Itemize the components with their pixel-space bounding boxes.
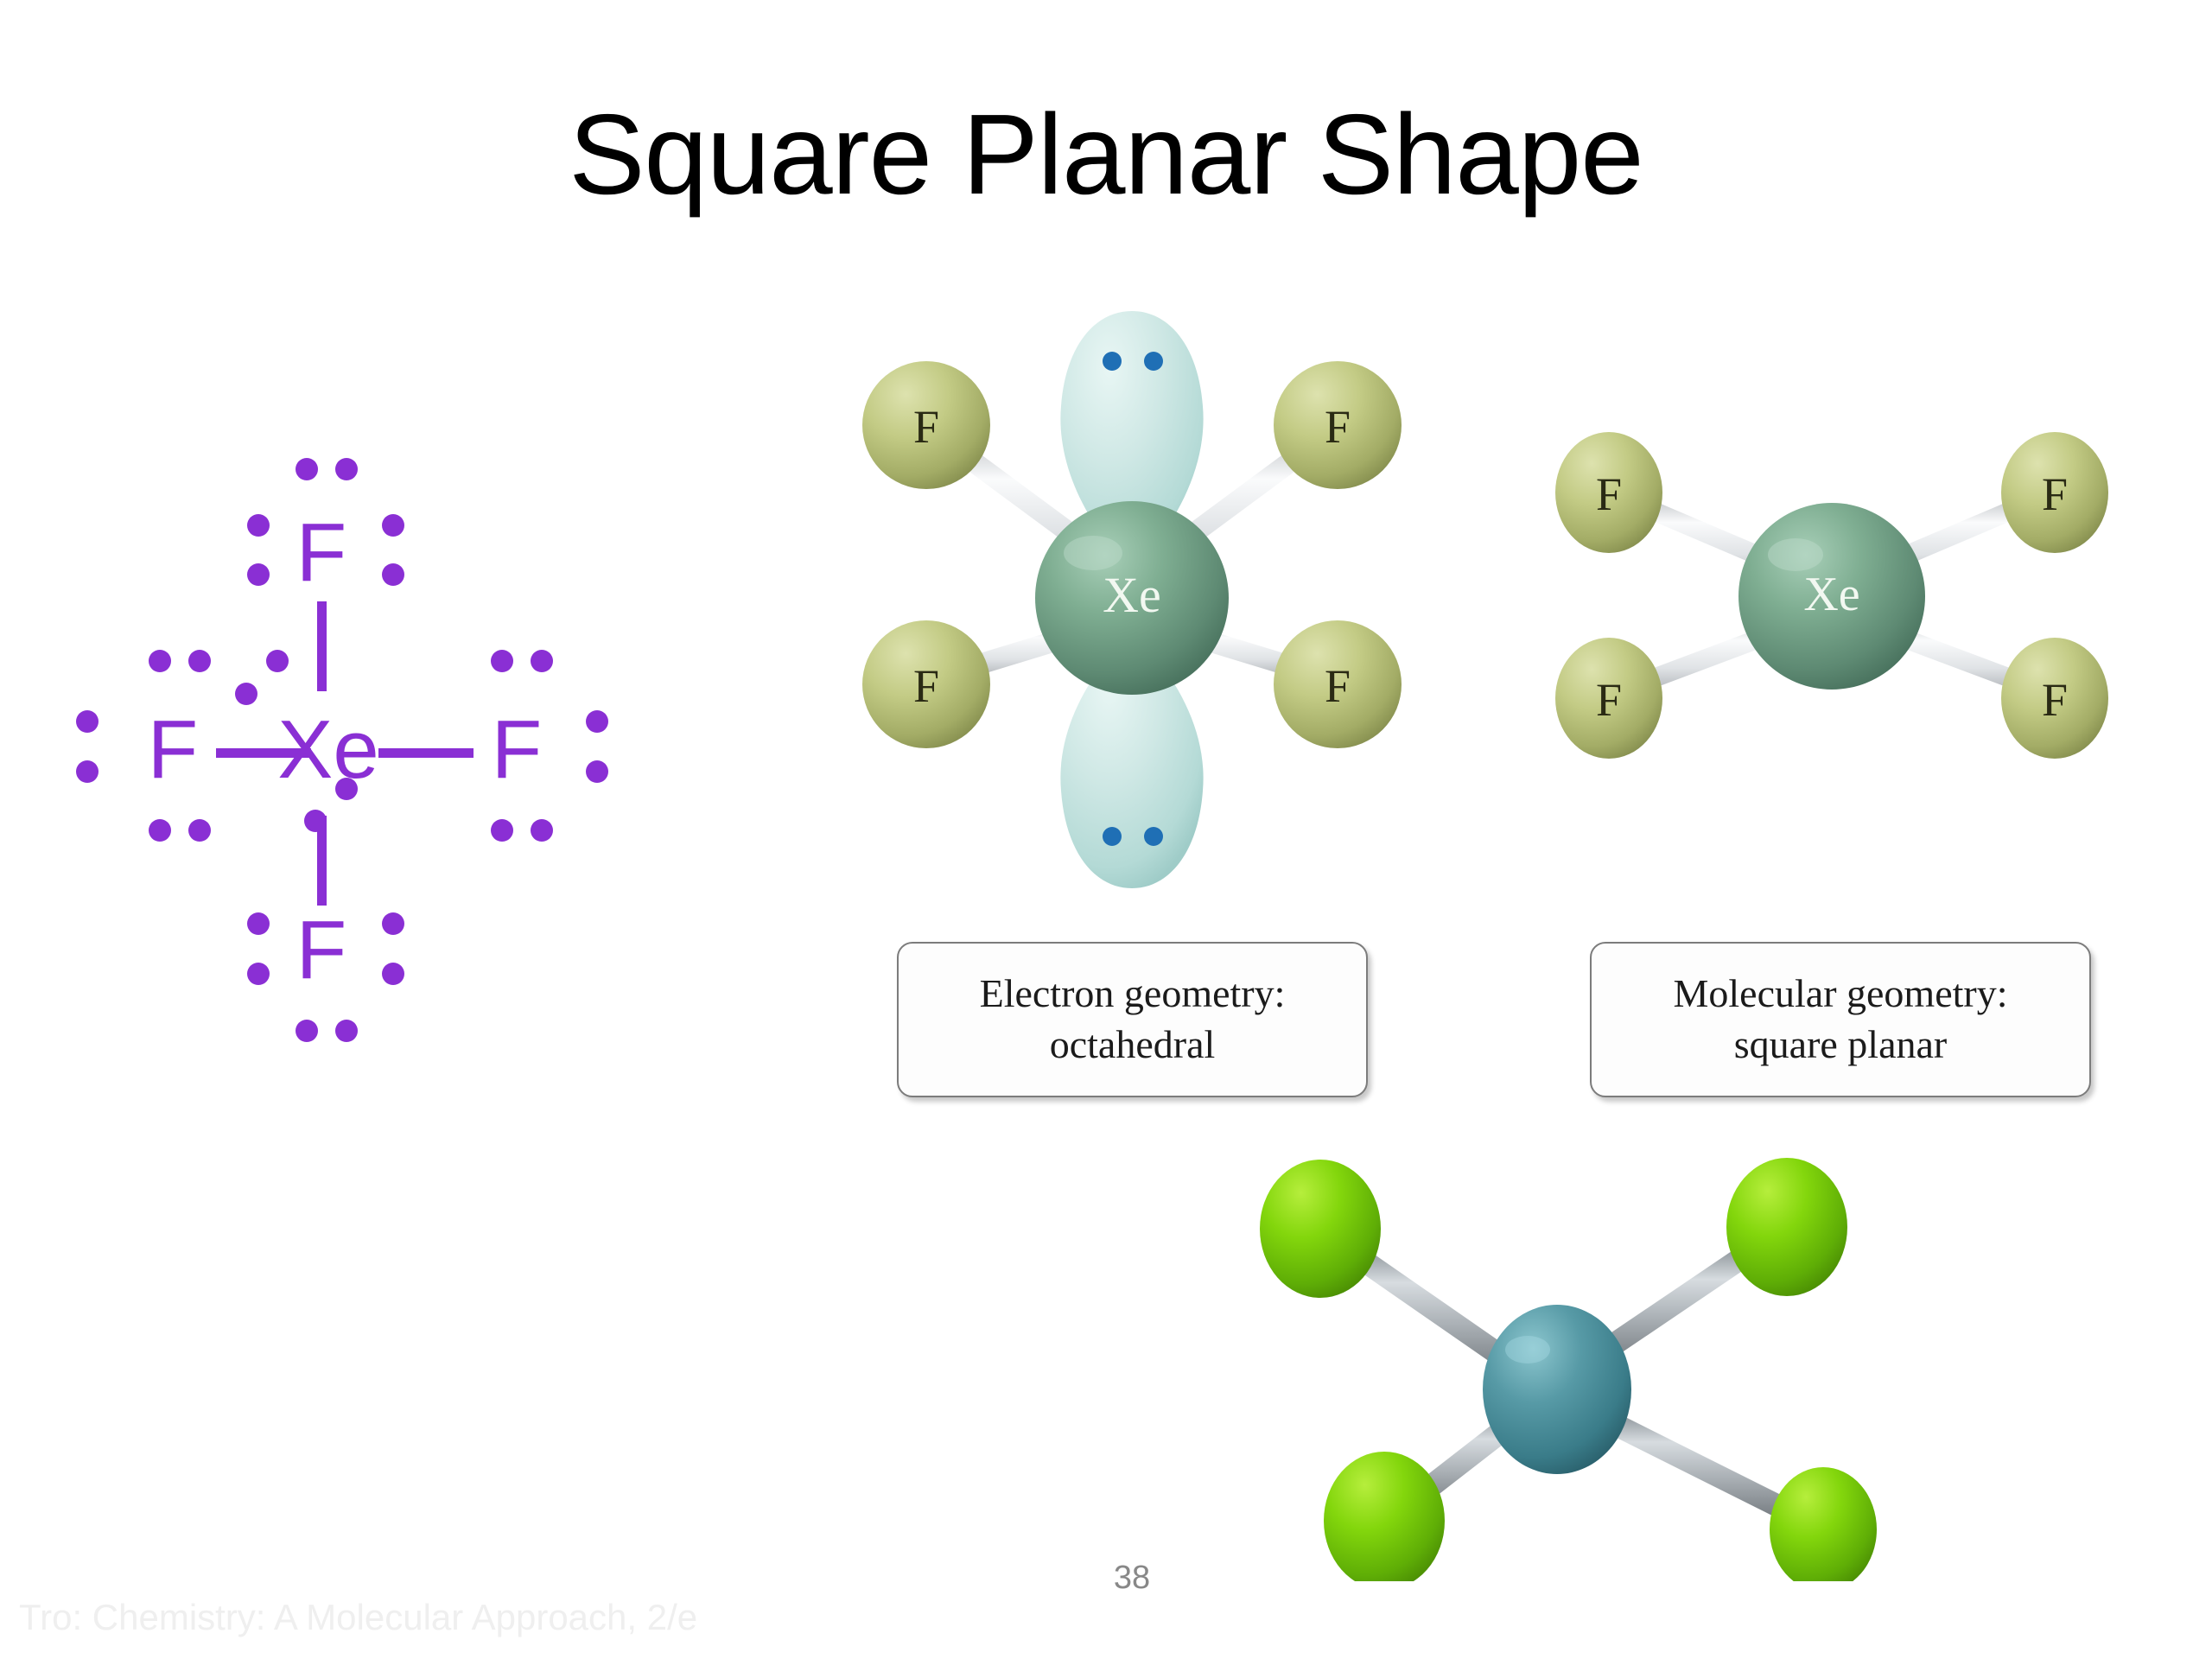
svg-text:F: F: [1325, 660, 1351, 712]
molecular-geometry-caption: Molecular geometry: square planar: [1590, 942, 2091, 1097]
lewis-f-top-dot-2: [335, 458, 358, 480]
lewis-ligand-atom-f-top: F: [270, 512, 373, 594]
electron-geometry-caption-line1: Electron geometry:: [980, 969, 1286, 1020]
lewis-f-right-dot-3: [586, 710, 608, 733]
space-filling-model: [1227, 1149, 1884, 1581]
lewis-ligand-atom-f-left: F: [121, 709, 225, 791]
lewis-f-right-dot-1: [491, 650, 513, 672]
svg-text:F: F: [913, 660, 939, 712]
page-title: Square Planar Shape: [0, 95, 2212, 215]
svg-text:F: F: [1596, 468, 1622, 520]
page-number: 38: [1063, 1560, 1201, 1597]
lewis-f-top-dot-4: [247, 563, 270, 586]
lewis-f-left-dot-1: [149, 650, 171, 672]
lewis-f-right-dot-6: [531, 819, 553, 842]
molecular-geometry-caption-line1: Molecular geometry:: [1673, 969, 2007, 1020]
lewis-ligand-atom-f-right: F: [465, 709, 569, 791]
lewis-center-atom-xe: Xe: [272, 709, 385, 791]
electron-geometry-model: Xe F F F F Xe F: [829, 294, 1434, 933]
svg-text:F: F: [913, 401, 939, 453]
svg-text:F: F: [2042, 468, 2068, 520]
lewis-f-right-dot-4: [586, 760, 608, 783]
lewis-f-left-dot-4: [76, 760, 99, 783]
molecular-geometry-caption-line2: square planar: [1734, 1020, 1948, 1071]
lewis-xe-lonepair-dot-2: [235, 683, 257, 705]
lewis-f-top-dot-1: [296, 458, 318, 480]
lewis-f-bottom-dot-6: [335, 1020, 358, 1042]
lewis-f-bottom-dot-5: [296, 1020, 318, 1042]
lewis-structure-diagram: Xe F F F F: [78, 432, 683, 1089]
electron-geometry-caption-line2: octahedral: [1050, 1020, 1216, 1071]
lewis-xe-lonepair-dot-1: [266, 650, 289, 672]
lewis-f-left-dot-6: [188, 819, 211, 842]
lewis-f-top-dot-5: [382, 514, 404, 537]
lewis-f-bottom-dot-2: [247, 963, 270, 985]
lewis-f-top-dot-6: [382, 563, 404, 586]
lewis-bond-right: [378, 748, 474, 758]
lewis-xe-lonepair-dot-3: [335, 778, 358, 800]
svg-text:F: F: [2042, 674, 2068, 726]
lewis-bond-top: [317, 601, 327, 691]
lewis-xe-lonepair-dot-4: [304, 810, 327, 832]
lewis-ligand-atom-f-bottom: F: [270, 909, 373, 992]
lewis-f-right-dot-5: [491, 819, 513, 842]
svg-text:Xe: Xe: [1803, 568, 1859, 621]
lewis-f-bottom-dot-1: [247, 912, 270, 935]
svg-text:Xe: Xe: [1103, 567, 1161, 623]
lewis-f-left-dot-5: [149, 819, 171, 842]
molecular-geometry-model: Xe F F F F Xe F: [1547, 423, 2117, 769]
svg-text:F: F: [1325, 401, 1351, 453]
lewis-f-left-dot-3: [76, 710, 99, 733]
source-footer: Tro: Chemistry: A Molecular Approach, 2/…: [19, 1597, 697, 1638]
lewis-f-bottom-dot-3: [382, 912, 404, 935]
electron-geometry-caption: Electron geometry: octahedral: [897, 942, 1368, 1097]
lewis-f-left-dot-2: [188, 650, 211, 672]
svg-text:F: F: [1596, 674, 1622, 726]
lewis-f-top-dot-3: [247, 514, 270, 537]
center-atom-sphere: [1483, 1305, 1631, 1474]
lewis-f-bottom-dot-4: [382, 963, 404, 985]
lewis-f-right-dot-2: [531, 650, 553, 672]
